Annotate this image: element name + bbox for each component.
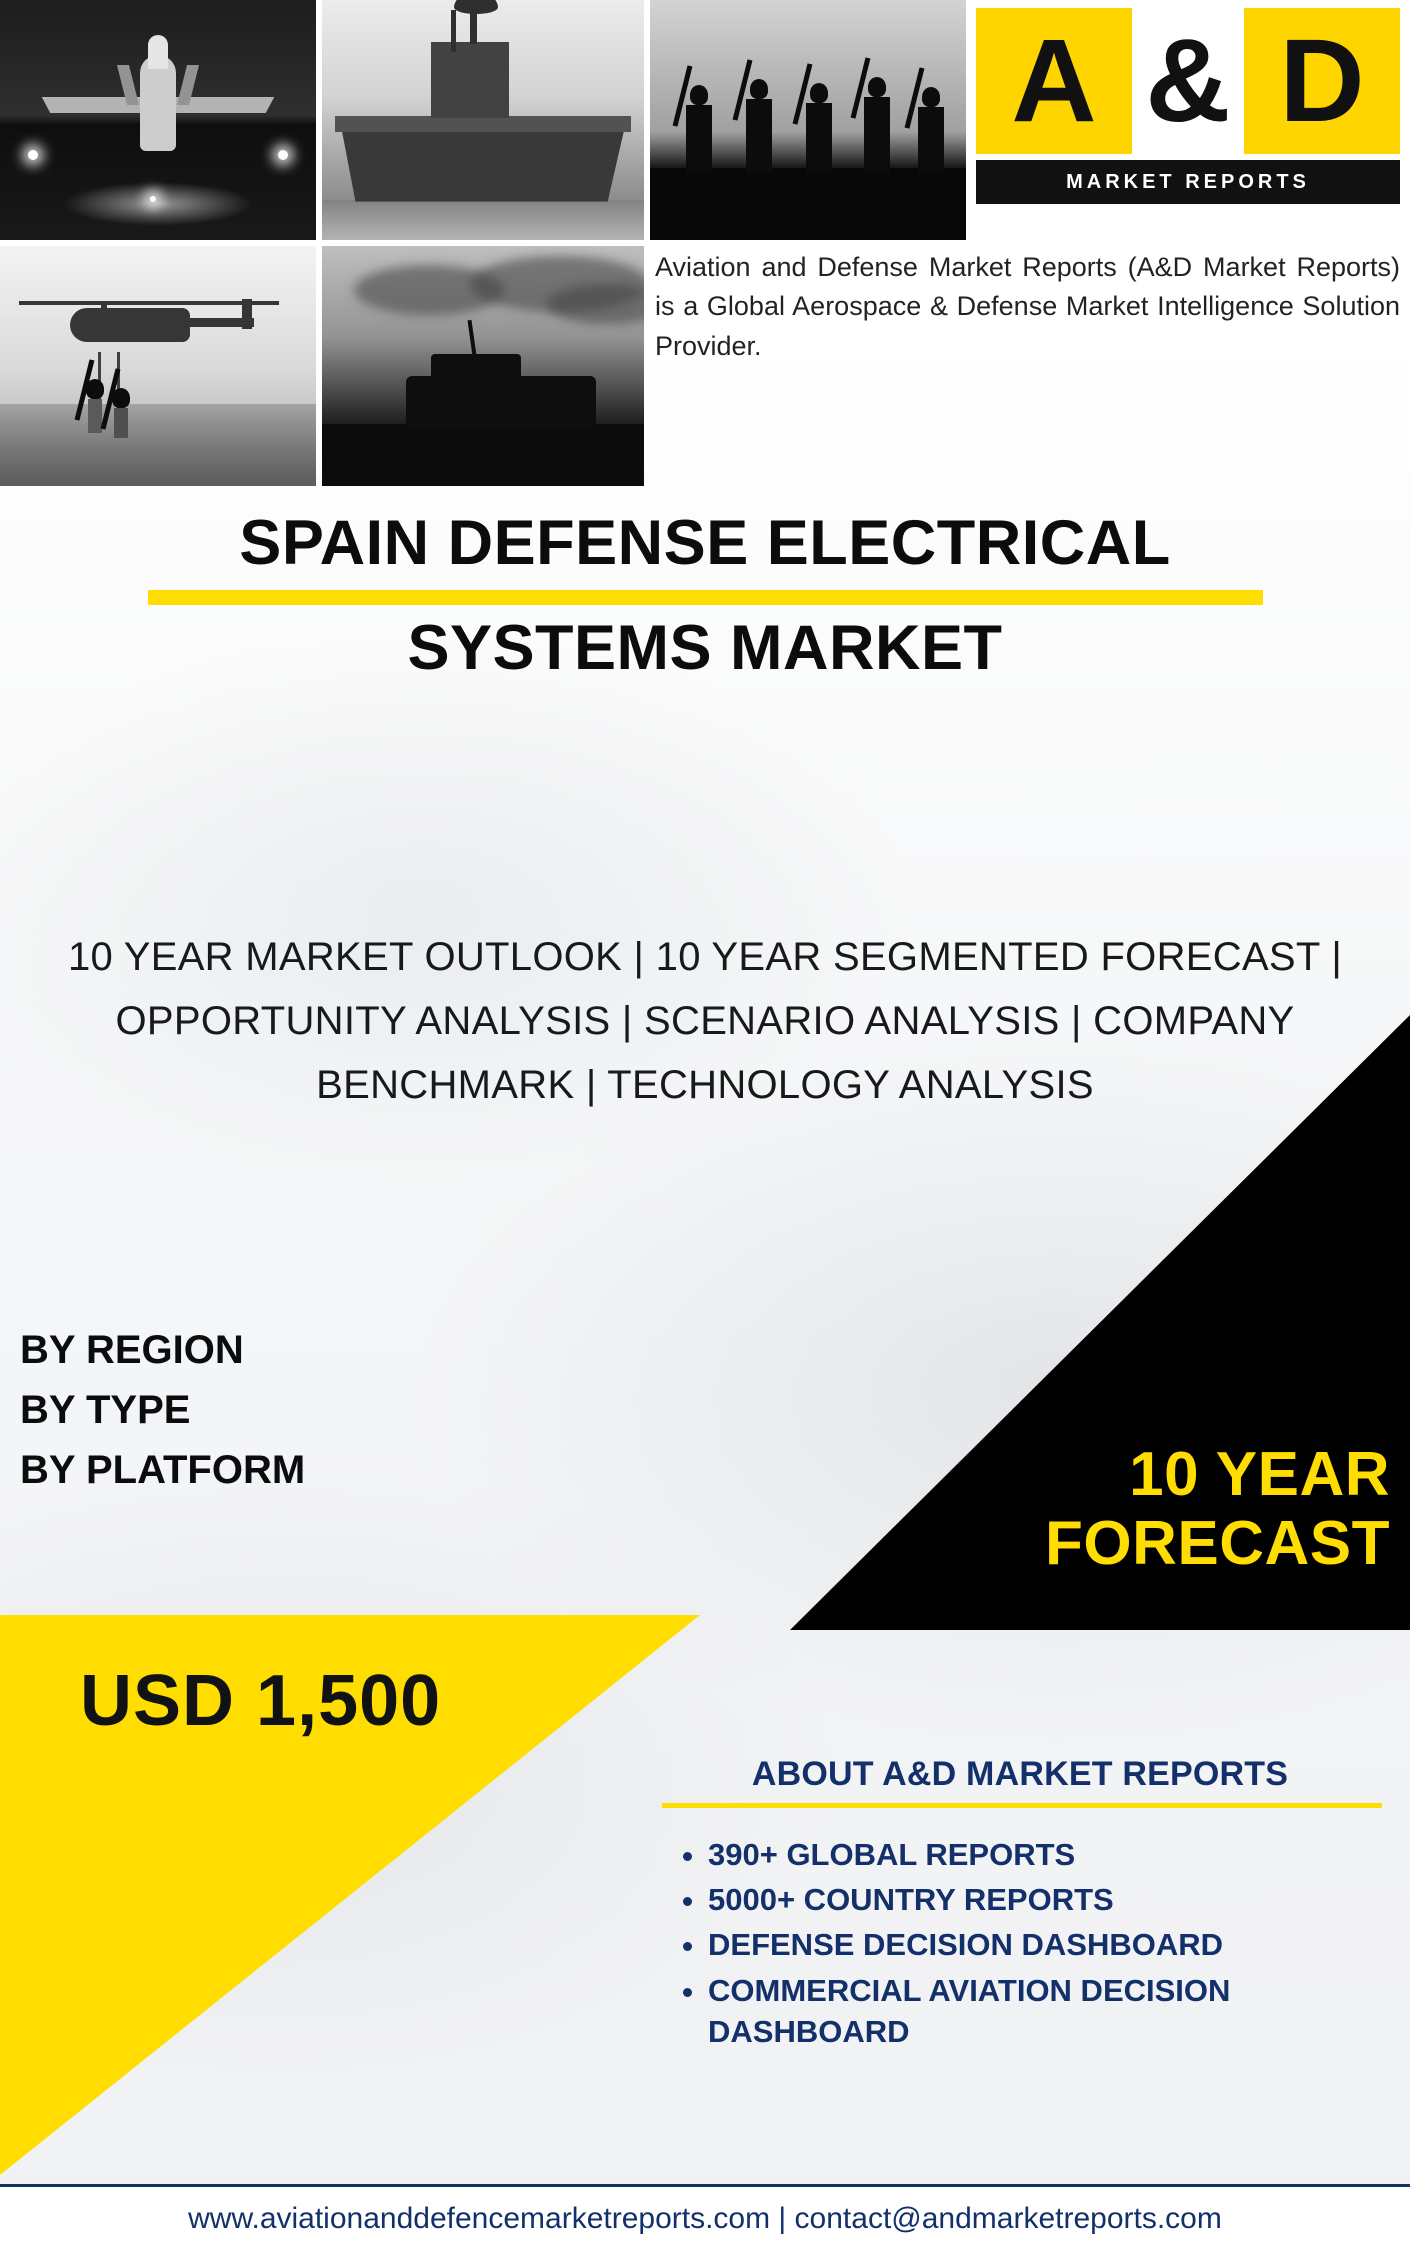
about-bullet-country-reports: 5000+ COUNTRY REPORTS xyxy=(708,1879,1390,1920)
logo-letters: A & D xyxy=(976,8,1400,154)
segment-item-type: BY TYPE xyxy=(20,1380,305,1440)
footer-contact-bar: www.aviationanddefencemarketreports.com … xyxy=(0,2184,1410,2250)
logo-letter-a: A xyxy=(1011,22,1096,140)
price-label: USD 1,500 xyxy=(80,1660,441,1742)
logo-letter-d: D xyxy=(1279,22,1364,140)
logo-ampersand: & xyxy=(1145,22,1230,140)
company-intro-paragraph: Aviation and Defense Market Reports (A&D… xyxy=(655,248,1400,366)
soldiers-silhouette-photo xyxy=(650,0,966,240)
report-title-line-1: SPAIN DEFENSE ELECTRICAL xyxy=(0,510,1410,576)
armored-vehicle-photo xyxy=(322,246,644,486)
logo-tagline: MARKET REPORTS xyxy=(976,160,1400,204)
segment-item-region: BY REGION xyxy=(20,1320,305,1380)
about-section: ABOUT A&D MARKET REPORTS 390+ GLOBAL REP… xyxy=(650,1755,1390,2056)
logo-letter-d-tile: D xyxy=(1244,8,1400,154)
about-heading: ABOUT A&D MARKET REPORTS xyxy=(650,1755,1390,1794)
about-bullet-global-reports: 390+ GLOBAL REPORTS xyxy=(708,1834,1390,1875)
report-scope-subtitle: 10 YEAR MARKET OUTLOOK | 10 YEAR SEGMENT… xyxy=(45,925,1365,1117)
aircraft-carrier-photo xyxy=(322,0,644,240)
about-bullet-list: 390+ GLOBAL REPORTS 5000+ COUNTRY REPORT… xyxy=(650,1834,1390,2052)
fighter-jet-photo xyxy=(0,0,316,240)
report-title-line-2: SYSTEMS MARKET xyxy=(0,615,1410,681)
company-logo: A & D MARKET REPORTS xyxy=(968,0,1410,212)
logo-ampersand-tile: & xyxy=(1132,8,1244,154)
forecast-badge-line-1: 10 YEAR xyxy=(870,1440,1390,1509)
helicopter-photo xyxy=(0,246,316,486)
about-bullet-defense-dashboard: DEFENSE DECISION DASHBOARD xyxy=(708,1924,1390,1965)
forecast-badge-line-2: FORECAST xyxy=(870,1509,1390,1578)
segmentation-list: BY REGION BY TYPE BY PLATFORM xyxy=(20,1320,305,1500)
forecast-badge: 10 YEAR FORECAST xyxy=(870,1440,1390,1579)
about-heading-underline xyxy=(662,1803,1382,1808)
logo-letter-a-tile: A xyxy=(976,8,1132,154)
segment-item-platform: BY PLATFORM xyxy=(20,1440,305,1500)
about-bullet-commercial-aviation-dashboard: COMMERCIAL AVIATION DECISION DASHBOARD xyxy=(708,1970,1390,2052)
report-title: SPAIN DEFENSE ELECTRICAL SYSTEMS MARKET xyxy=(0,510,1410,681)
title-underline xyxy=(148,590,1263,605)
